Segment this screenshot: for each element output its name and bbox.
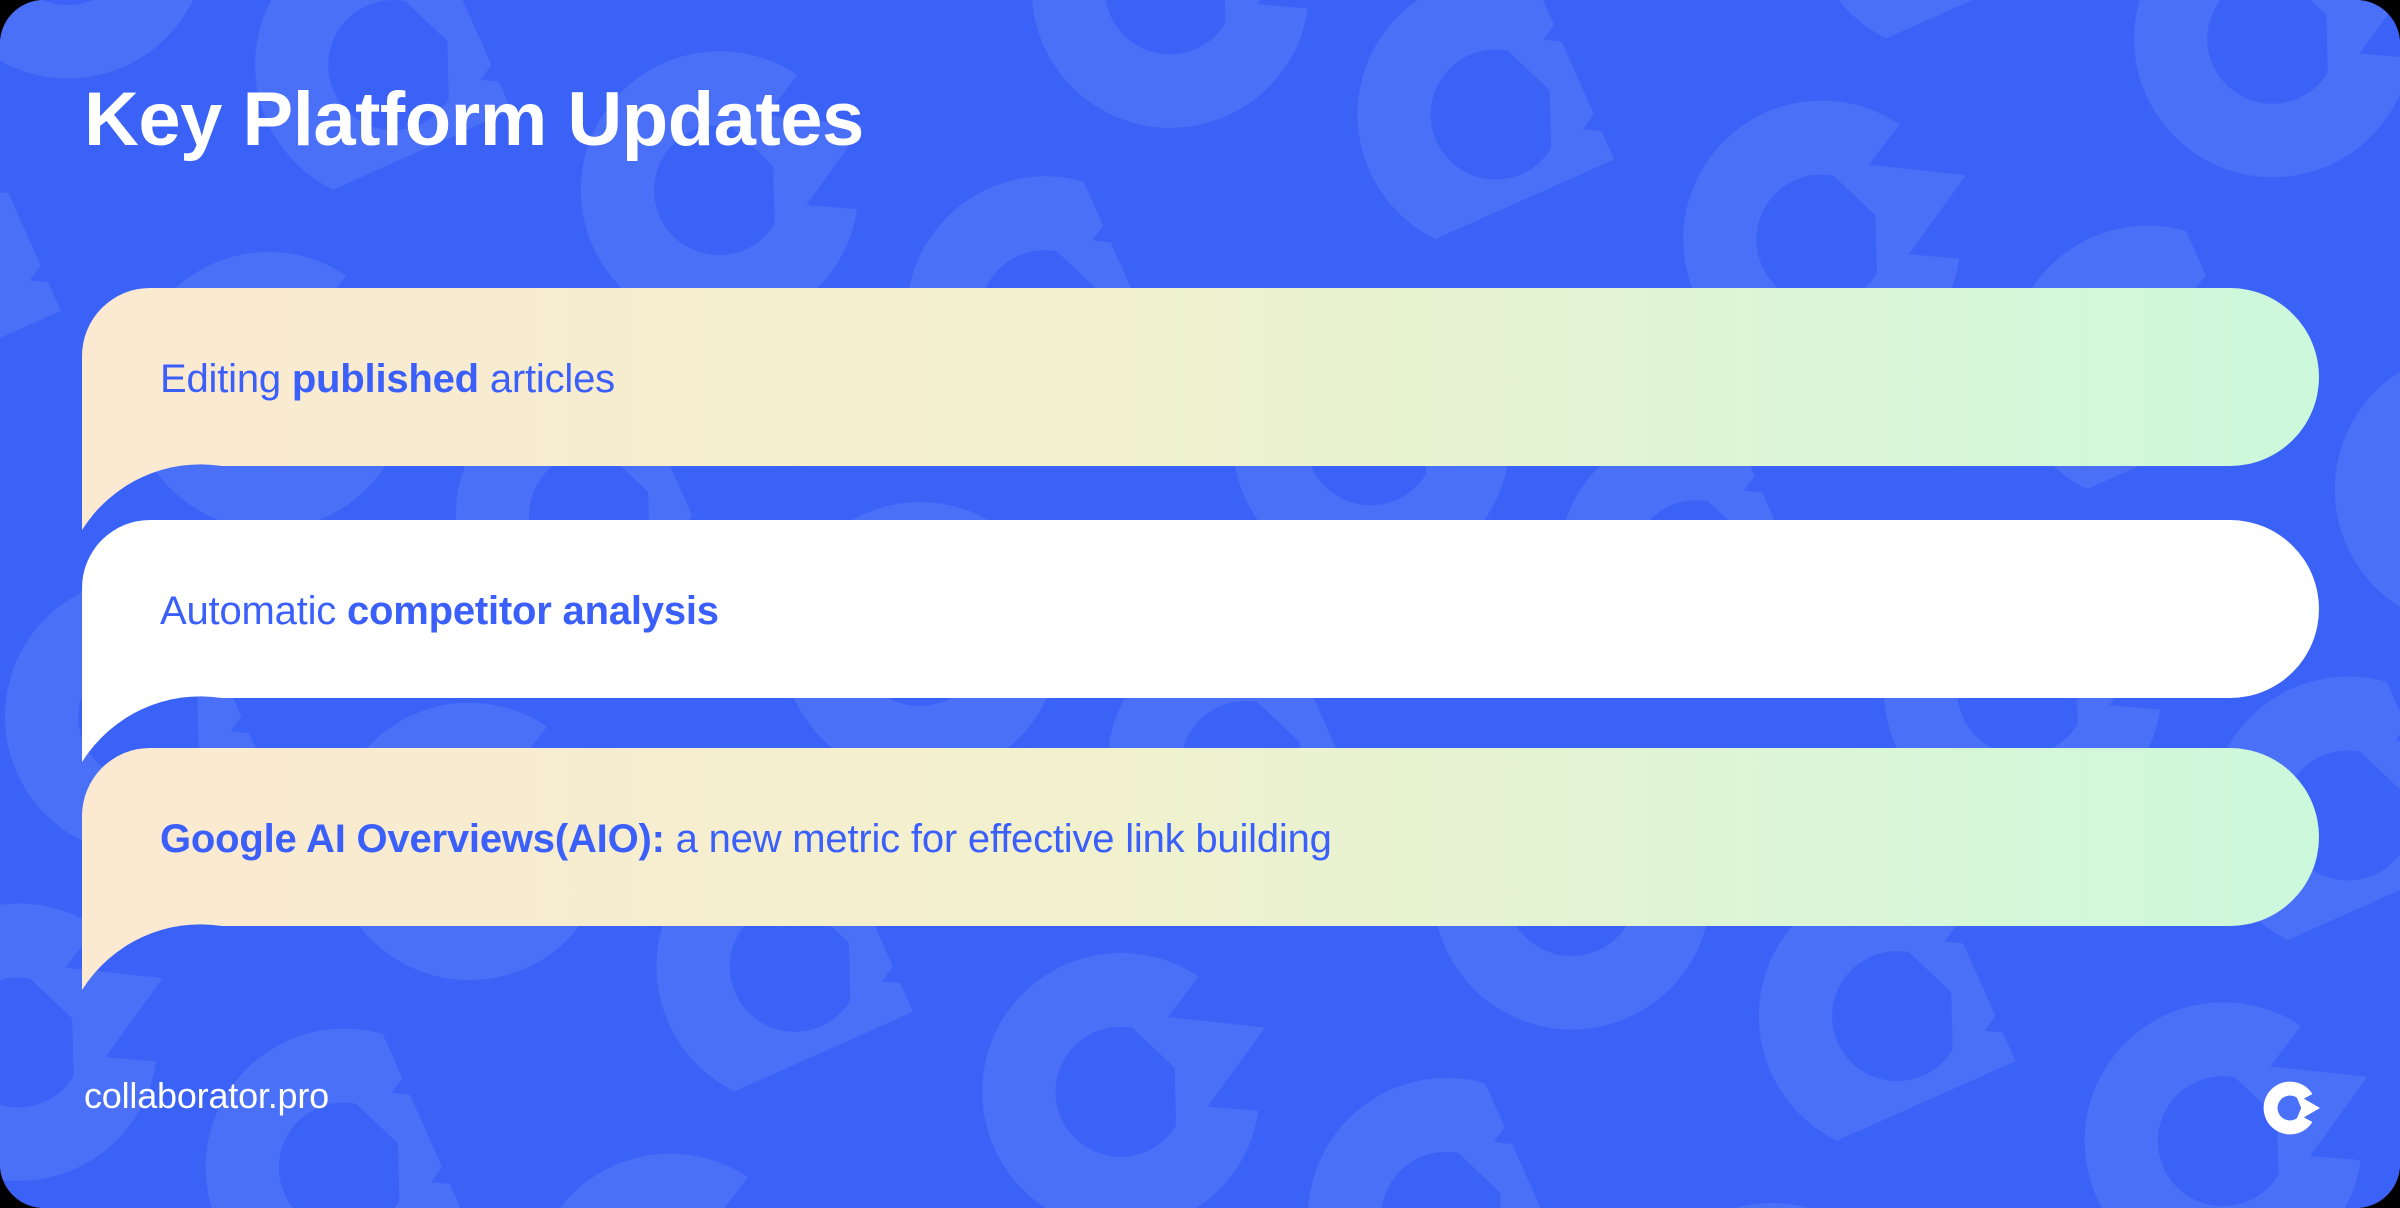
card-1-label: Editing published articles	[160, 355, 615, 403]
card-1-shape[interactable]	[82, 288, 2319, 530]
card-2-bold: competitor analysis	[347, 589, 719, 633]
card-3-suffix: a new metric for effective link building	[665, 817, 1332, 861]
footer-brand-text: collaborator.pro	[84, 1075, 329, 1117]
card-2-shape[interactable]	[82, 520, 2319, 762]
card-3-shape[interactable]	[82, 748, 2319, 990]
card-1-prefix: Editing	[160, 357, 292, 401]
page-title: Key Platform Updates	[84, 82, 864, 158]
card-1-bold: published	[292, 357, 479, 401]
card-3-bold: Google AI Overviews(AIO):	[160, 817, 665, 861]
card-2-label: Automatic competitor analysis	[160, 587, 719, 635]
collaborator-logo-icon	[2260, 1078, 2324, 1138]
card-3-label: Google AI Overviews(AIO): a new metric f…	[160, 815, 1332, 863]
card-2-prefix: Automatic	[160, 589, 347, 633]
card-1-suffix: articles	[479, 357, 615, 401]
slide-canvas: Key Platform Updates Editing published a…	[0, 0, 2400, 1208]
